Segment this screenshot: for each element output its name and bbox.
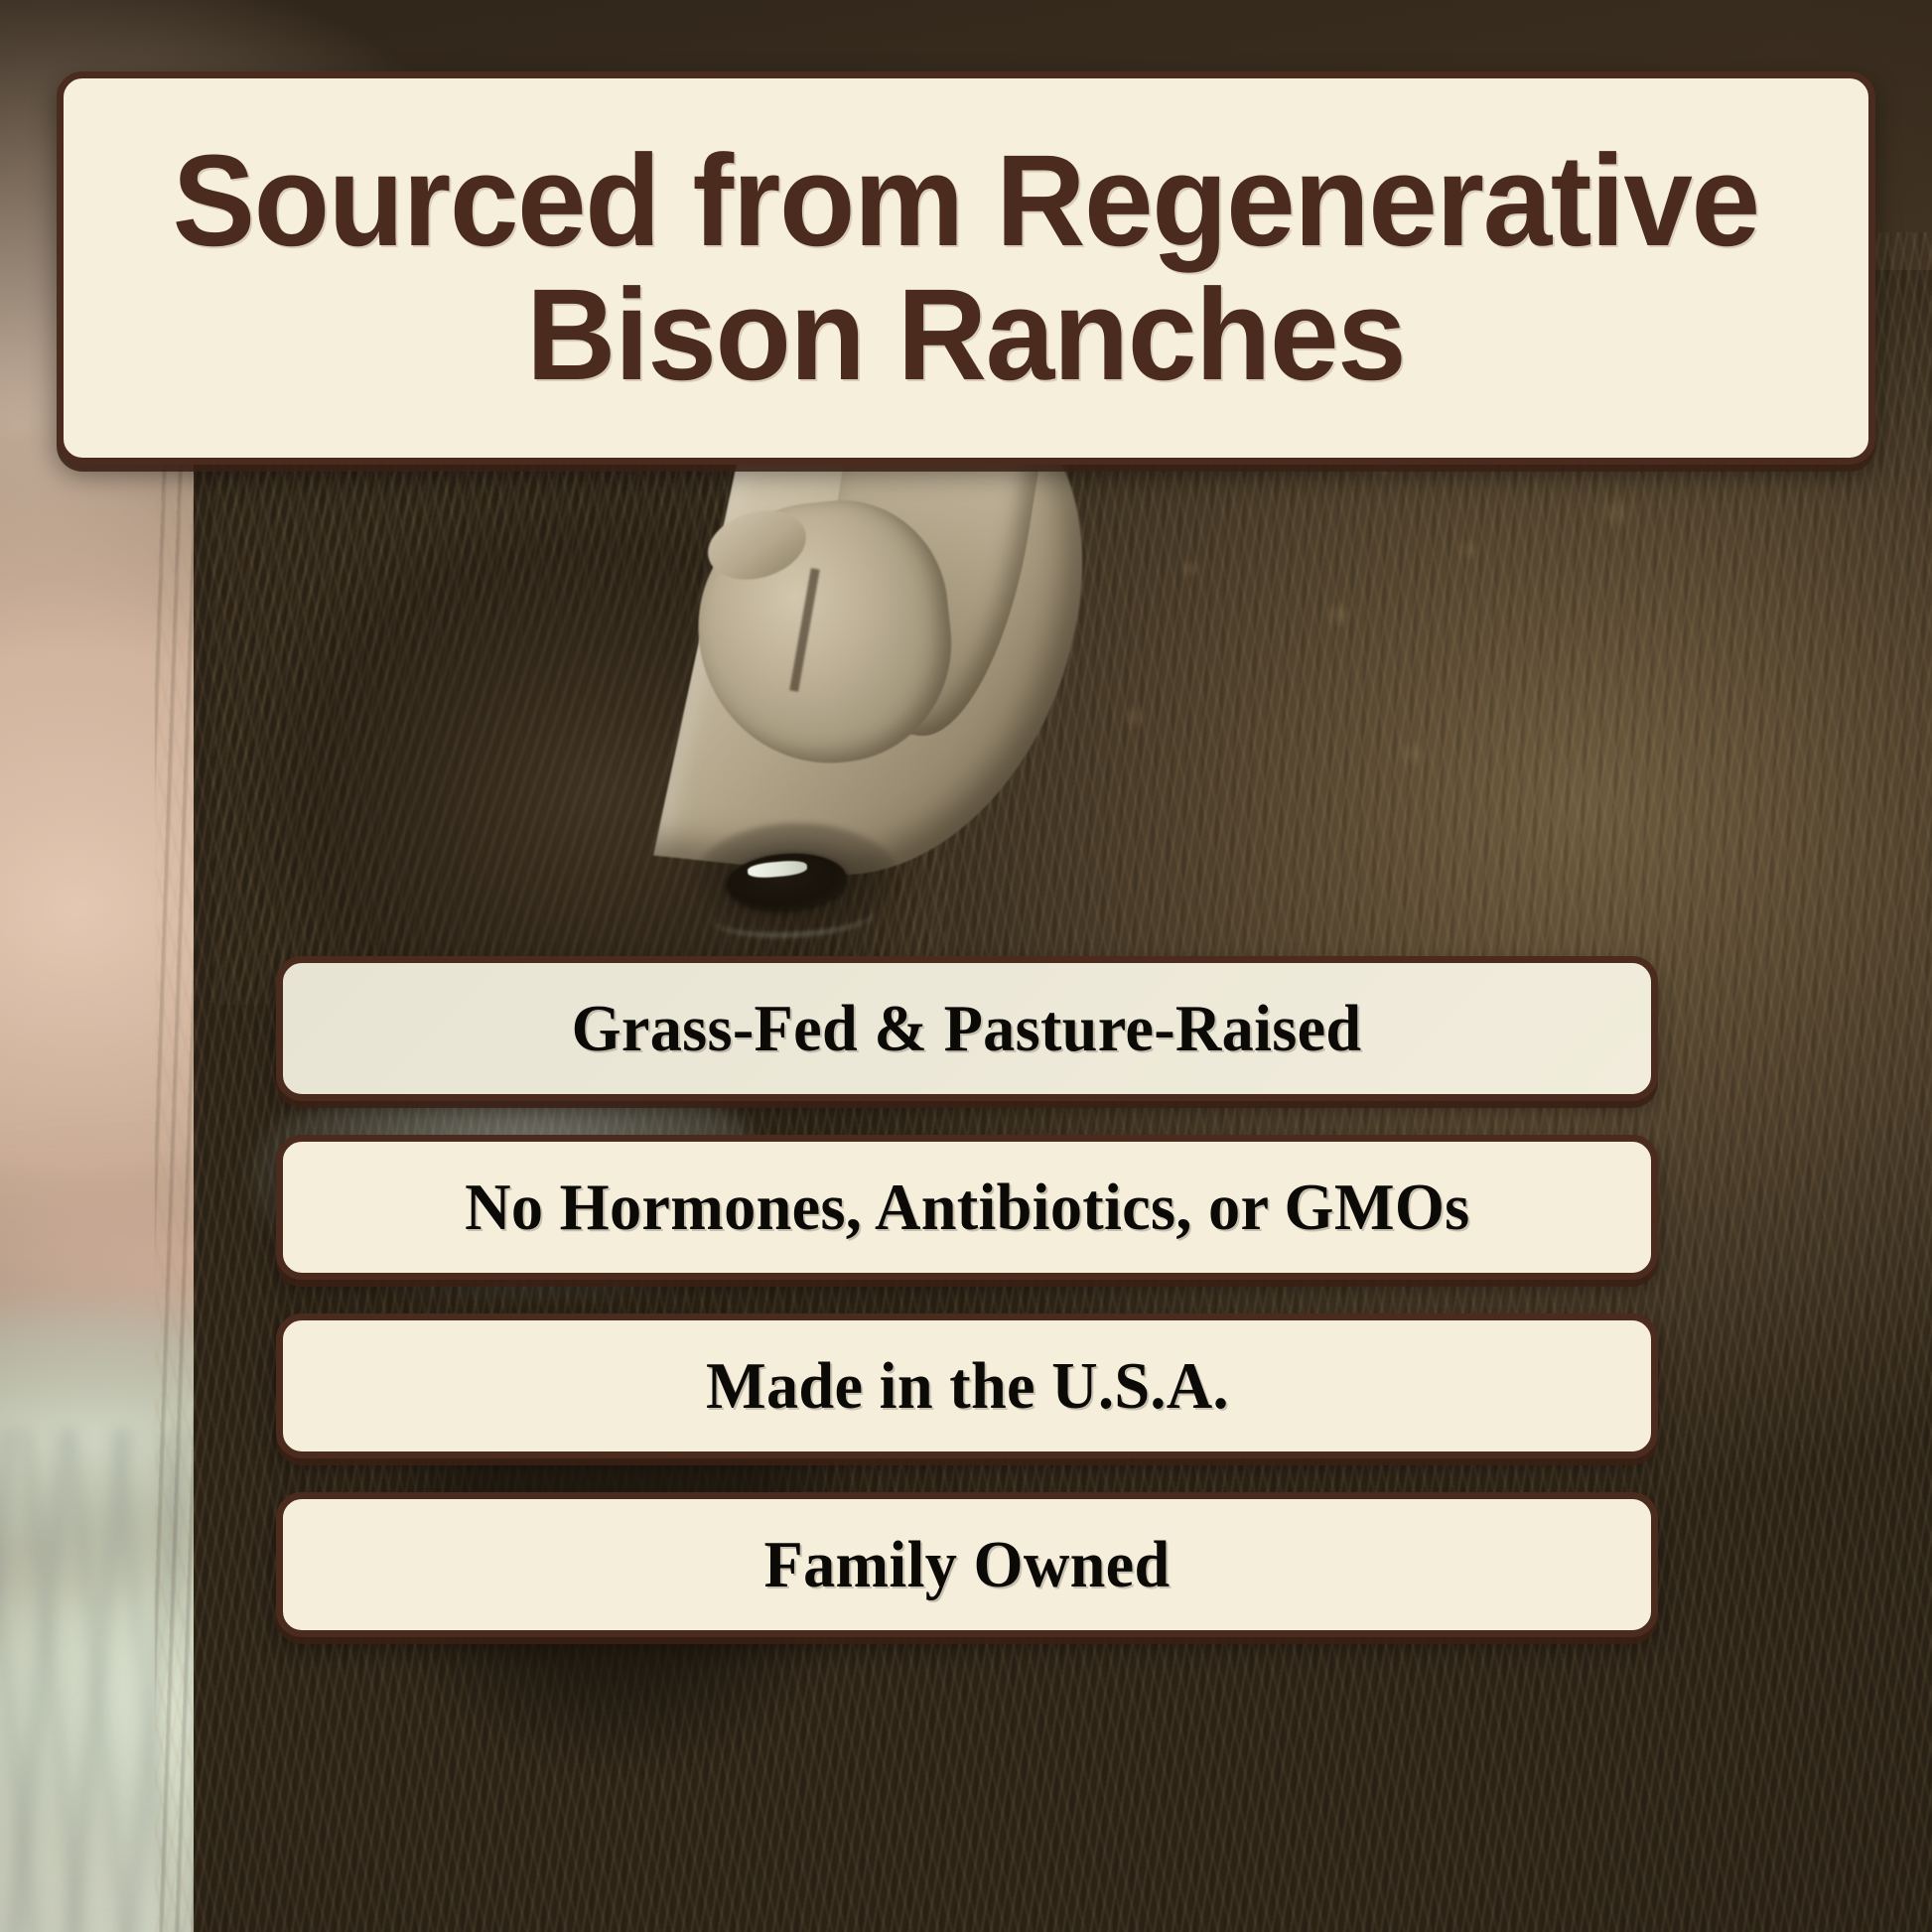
feature-badge-no-hormones[interactable]: No Hormones, Antibiotics, or GMOs (276, 1135, 1658, 1280)
page-title: Sourced from Regenerative Bison Ranches (173, 134, 1759, 402)
feature-badge-label: Grass-Fed & Pasture-Raised (572, 996, 1362, 1062)
feature-badge-made-in-usa[interactable]: Made in the U.S.A. (276, 1313, 1658, 1458)
feature-badge-label: Made in the U.S.A. (706, 1353, 1229, 1420)
feature-badge-grass-fed[interactable]: Grass-Fed & Pasture-Raised (276, 956, 1658, 1101)
feature-badge-family-owned[interactable]: Family Owned (276, 1492, 1658, 1637)
feature-badge-label: No Hormones, Antibiotics, or GMOs (465, 1174, 1469, 1241)
promo-graphic: Sourced from Regenerative Bison Ranches … (0, 0, 1932, 1932)
header-panel: Sourced from Regenerative Bison Ranches (57, 71, 1875, 465)
feature-badge-label: Family Owned (763, 1532, 1170, 1598)
feature-badge-list: Grass-Fed & Pasture-Raised No Hormones, … (276, 956, 1658, 1637)
